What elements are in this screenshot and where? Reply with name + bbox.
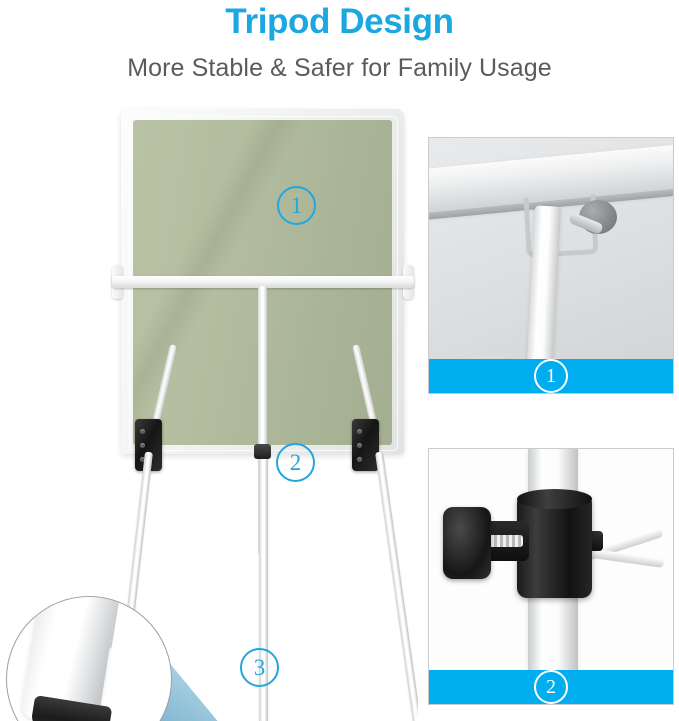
callout-badge-2: 2 [276,443,315,482]
corner-bracket-right [352,419,379,471]
bracket-rivet [357,429,362,434]
detail-2-caption-badge: 2 [534,670,568,704]
detail-panel-1: 1 [428,137,674,394]
detail-1-photo [429,138,673,359]
bracket-rivet [357,443,362,448]
detail-panel-2: 2 [428,448,674,705]
callout-badge-1: 1 [277,186,316,225]
header-block: Tripod Design More Stable & Safer for Fa… [0,0,679,100]
bracket-rivet [140,443,145,448]
bracket-rivet [140,429,145,434]
tripod-leg-right [375,451,418,721]
page-title: Tripod Design [0,2,679,42]
bracket-rivet [357,457,362,462]
hero-product-photo: 1 2 3 [0,100,418,721]
detail-1-caption-bar: 1 [429,359,673,393]
center-pole-clamp-collar [254,444,271,459]
detail-2-caption-bar: 2 [429,670,673,704]
callout-badge-3: 3 [240,648,279,687]
page-subtitle: More Stable & Safer for Family Usage [0,54,679,83]
detail-1-caption-badge: 1 [534,359,568,393]
black-clamp-collar-rim [517,489,592,509]
detail-2-photo [429,449,673,670]
twist-knob [443,507,491,579]
